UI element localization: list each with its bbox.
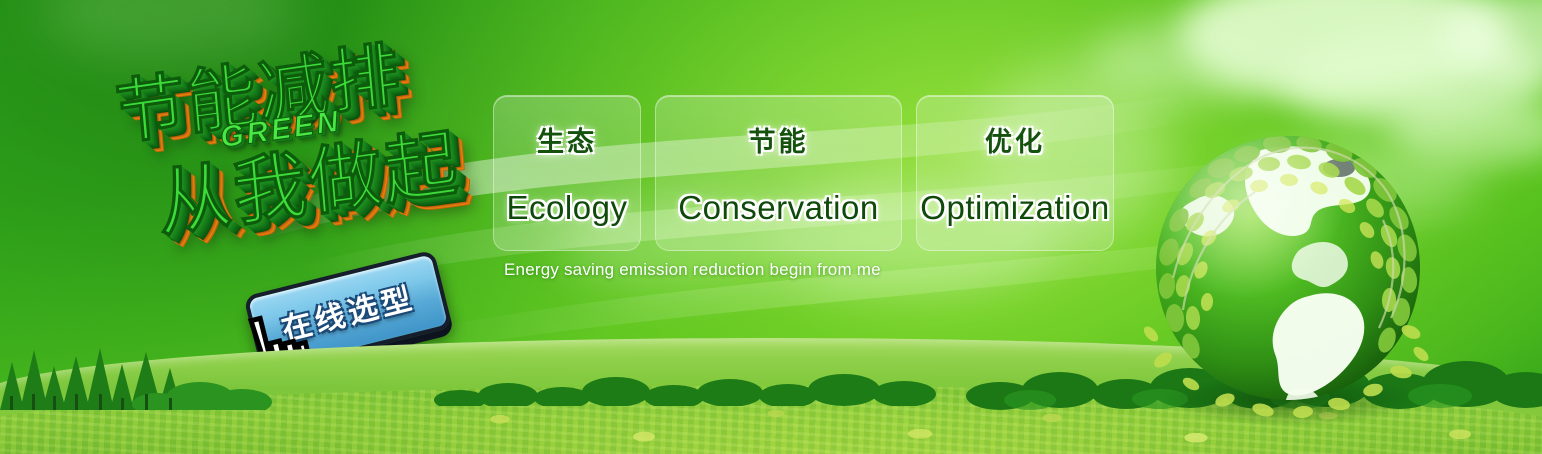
- feature-card-list: 生态 Ecology 节能 Conservation 优化 Optimizati…: [493, 95, 1114, 251]
- feature-card-label-cn: 节能: [749, 120, 809, 159]
- cloud-icon: [1180, 0, 1510, 100]
- cloud-icon: [1440, 0, 1542, 80]
- feature-card-conservation[interactable]: 节能 Conservation: [655, 95, 902, 251]
- feature-card-label-en: Ecology: [507, 189, 628, 227]
- cloud-icon: [1280, 30, 1542, 125]
- leafy-earth-globe-icon: [1143, 128, 1433, 428]
- banner-tagline: Energy saving emission reduction begin f…: [504, 260, 881, 280]
- green-energy-banner: 节能减排 GREEN 从我做起 生态 Ecology 节能 Conservati…: [0, 0, 1542, 454]
- feature-card-label-cn: 优化: [985, 120, 1045, 159]
- feature-card-label-cn: 生态: [537, 120, 597, 159]
- feature-card-label-en: Optimization: [920, 189, 1109, 227]
- feature-card-label-en: Conservation: [678, 189, 878, 227]
- cloud-icon: [40, 0, 300, 60]
- headline-line-2: 从我做起: [153, 103, 463, 252]
- headline-accent-green: GREEN: [218, 105, 343, 156]
- cloud-icon: [1090, 20, 1290, 100]
- headline-line-1: 节能减排: [111, 18, 405, 159]
- headline-3d-artwork: 节能减排 GREEN 从我做起: [96, 38, 496, 273]
- feature-card-ecology[interactable]: 生态 Ecology: [493, 95, 641, 251]
- feature-card-optimization[interactable]: 优化 Optimization: [916, 95, 1114, 251]
